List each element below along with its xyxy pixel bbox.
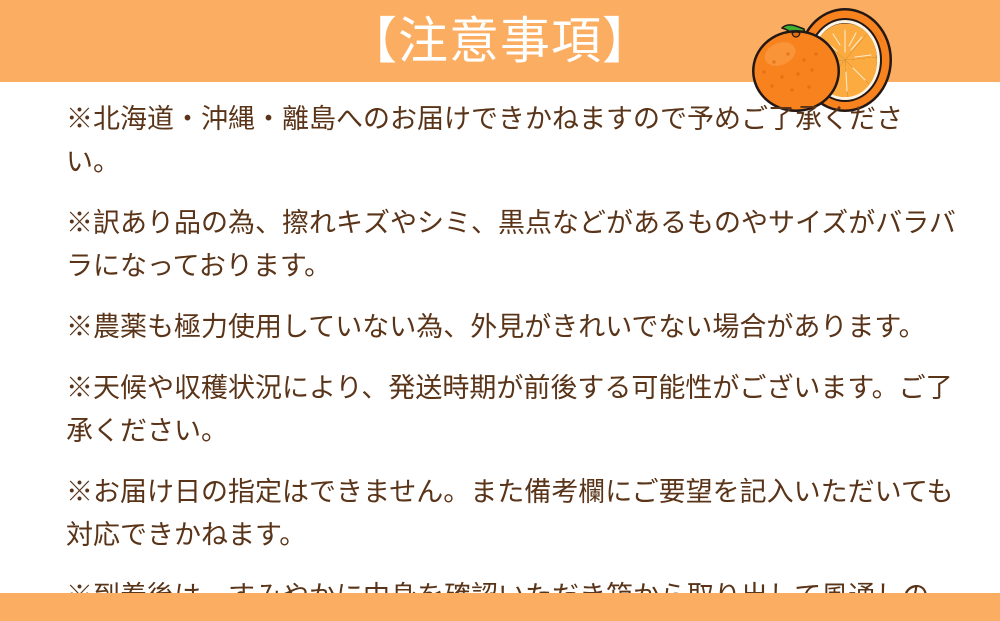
notice-item: ※お届け日の指定はできません。また備考欄にご要望を記入いただいても対応できかねま… (66, 471, 956, 557)
notice-list: ※北海道・沖縄・離島へのお届けできかねますので予めご了承ください。 ※訳あり品の… (66, 98, 956, 621)
notice-item: ※天候や収穫状況により、発送時期が前後する可能性がございます。ご了承ください。 (66, 367, 956, 453)
footer-band (0, 593, 1000, 621)
notice-panel: 【注意事項】 (0, 0, 1000, 621)
notice-item: ※北海道・沖縄・離島へのお届けできかねますので予めご了承ください。 (66, 98, 956, 184)
notice-item: ※訳あり品の為、擦れキズやシミ、黒点などがあるものやサイズがバラバラになっており… (66, 202, 956, 288)
notice-item: ※農薬も極力使用していない為、外見がきれいでない場合があります。 (66, 306, 956, 349)
